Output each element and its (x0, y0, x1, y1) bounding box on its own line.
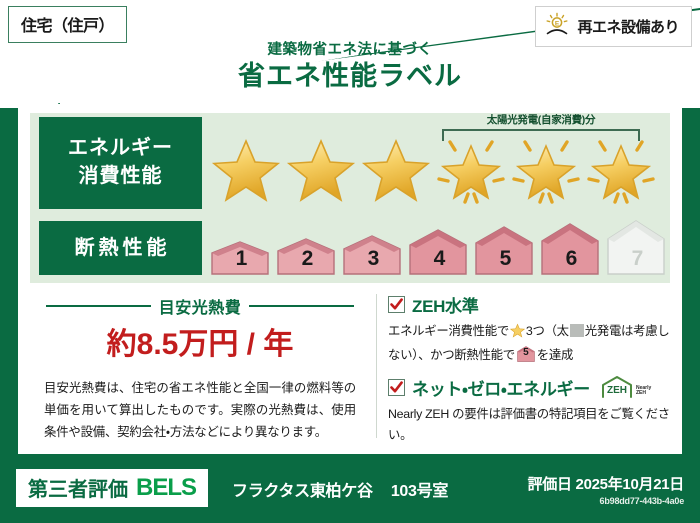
solar-bracket-label: 太陽光発電(自家消費)分 (442, 112, 640, 127)
label-footer: 第三者評価 BELS フラクタス東柏ケ谷 103号室 評価日 2025年10月2… (0, 461, 700, 523)
insulation-level-badge: 2 (276, 238, 339, 275)
renewable-badge-label: 再エネ設備あり (577, 16, 679, 37)
insulation-level-badge-inactive: 7 (606, 220, 669, 275)
utility-cost-heading: 目安光熱費 (30, 294, 370, 318)
lower-section: 目安光熱費 約8.5万円 / 年 目安光熱費は、住宅の省エネ性能と全国一律の燃料… (30, 292, 670, 444)
insulation-level-number: 4 (434, 247, 446, 275)
utility-cost-note: 目安光熱費は、住宅の省エネ性能と全国一律の燃料等の単価を用いて算出したものです。… (30, 377, 370, 443)
building-identity: フラクタス東柏ケ谷 103号室 (232, 477, 448, 501)
zeh-panel: ZEH水準 エネルギー消費性能で 3つ（太光発電は考慮しない）、かつ断熱性能で … (388, 292, 670, 454)
bels-logo-text: BELS (136, 474, 196, 502)
zeh-body-text-part1: エネルギー消費性能で (388, 324, 509, 338)
insulation-level-badge: 4 (408, 229, 471, 275)
building-name: フラクタス東柏ケ谷 (232, 483, 373, 500)
energy-performance-row: エネルギー 消費性能 太陽光発電(自家消費)分 (30, 113, 670, 213)
star-rating (210, 135, 657, 205)
star-solar (510, 135, 582, 205)
label-body-card: エネルギー 消費性能 太陽光発電(自家消費)分 (18, 104, 682, 454)
star-filled (360, 135, 432, 205)
zeh-standard-body: エネルギー消費性能で 3つ（太光発電は考慮しない）、かつ断熱性能で 5を達成 (388, 321, 670, 367)
heading-rule-left (46, 305, 151, 307)
insulation-level-number: 3 (368, 247, 380, 275)
star-solar (435, 135, 507, 205)
zeh-standard-header: ZEH水準 (388, 292, 670, 317)
checkbox-checked-icon (388, 379, 405, 396)
evaluation-meta: 評価日 2025年10月21日 6b98dd77-443b-4a0e (528, 473, 684, 506)
vertical-divider (376, 294, 377, 438)
utility-cost-value: 約8.5万円 / 年 (30, 328, 370, 361)
star-filled (210, 135, 282, 205)
energy-label-line2: 消費性能 (79, 163, 163, 191)
utility-cost-panel: 目安光熱費 約8.5万円 / 年 目安光熱費は、住宅の省エネ性能と全国一律の燃料… (30, 292, 370, 444)
energy-label-line1: エネルギー (68, 135, 173, 163)
net-zero-energy-header: ネット・ゼロ・エネルギー ZEH Nearly ZEH (388, 375, 670, 400)
evaluation-id: 6b98dd77-443b-4a0e (528, 496, 684, 506)
zeh-logo-subtext: Nearly ZEH (636, 386, 651, 400)
building-type-tag: 住宅（住戸） (8, 6, 127, 43)
insulation-level-scale: 1 2 3 (210, 221, 670, 275)
evaluation-date: 評価日 2025年10月21日 (528, 473, 684, 494)
net-zero-energy-title: ネット・ゼロ・エネルギー (412, 375, 590, 400)
insulation-level-number: 2 (302, 247, 314, 275)
star-solar (585, 135, 657, 205)
insulation-level-number: 6 (566, 247, 578, 275)
insulation-level-badge: 6 (540, 223, 603, 275)
insulation-level-number: 1 (236, 247, 248, 275)
energy-performance-label: 住宅（住戸） E 再エネ設備あり 建築物省エネ法に基づく 省エネ性能ラベル (0, 0, 700, 523)
checkbox-checked-icon (388, 296, 405, 313)
star-filled (285, 135, 357, 205)
page-title: 省エネ性能ラベル (0, 60, 700, 92)
net-zero-energy-body: Nearly ZEH の要件は評価書の特記項目をご覧ください。 (388, 404, 670, 447)
insulation-level-number: 5 (500, 247, 512, 275)
room-number: 103号室 (391, 483, 448, 500)
renewable-equipment-badge: E 再エネ設備あり (535, 6, 692, 47)
zeh-standard-title: ZEH水準 (412, 292, 479, 317)
svg-text:ZEH: ZEH (607, 385, 627, 396)
inline-insulation-level-number: 5 (517, 346, 535, 362)
insulation-performance-row: 断熱性能 1 2 (30, 217, 670, 279)
insulation-performance-label: 断熱性能 (39, 221, 202, 275)
inline-insulation-level-icon: 5 (517, 346, 535, 362)
performance-band: エネルギー 消費性能 太陽光発電(自家消費)分 (30, 113, 670, 283)
third-party-label: 第三者評価 (28, 473, 128, 502)
zeh-body-text-part3: を達成 (537, 348, 573, 362)
zeh-logo-sub-line2: ZEH (636, 391, 651, 396)
net-zero-energy-item: ネット・ゼロ・エネルギー ZEH Nearly ZEH (388, 375, 670, 447)
insulation-level-badge: 1 (210, 241, 273, 275)
label-title-block: 建築物省エネ法に基づく 省エネ性能ラベル (0, 42, 700, 92)
heading-rule-right (249, 305, 354, 307)
zeh-standard-item: ZEH水準 エネルギー消費性能で 3つ（太光発電は考慮しない）、かつ断熱性能で … (388, 292, 670, 367)
zeh-logo: ZEH Nearly ZEH (600, 375, 651, 399)
inline-star-icon (510, 323, 525, 345)
sun-renewable-icon: E (544, 12, 570, 41)
insulation-level-badge: 5 (474, 226, 537, 275)
insulation-level-badge: 3 (342, 235, 405, 275)
insulation-label-text: 断熱性能 (75, 236, 171, 260)
insulation-level-number: 7 (632, 247, 644, 275)
energy-stars-container: 太陽光発電(自家消費)分 (210, 113, 670, 213)
energy-performance-label: エネルギー 消費性能 (39, 117, 202, 209)
third-party-evaluation-badge: 第三者評価 BELS (16, 469, 208, 507)
zeh-body-star-count: 3つ（太 (526, 324, 569, 338)
redacted-character-block (570, 324, 584, 337)
utility-cost-heading-text: 目安光熱費 (159, 294, 242, 318)
svg-text:E: E (555, 20, 560, 27)
